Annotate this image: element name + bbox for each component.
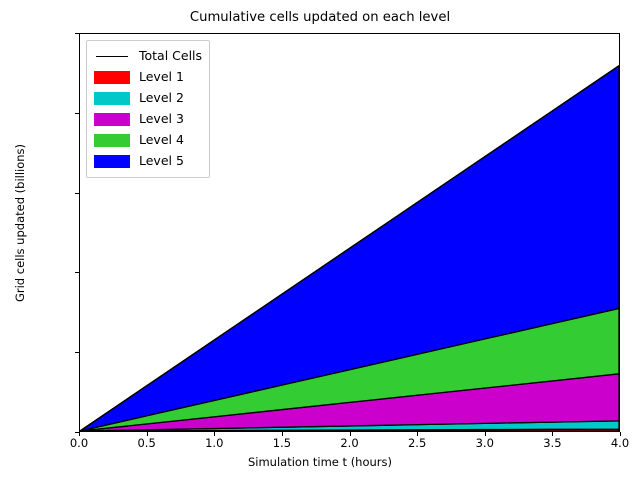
y-tick-mark [75,33,79,34]
y-tick-mark [75,113,79,114]
legend-swatch-icon [94,71,130,84]
x-tick-label: 0.0 [49,436,109,450]
legend-item-level-1[interactable]: Level 1 [94,67,202,88]
legend-line-stroke [96,56,128,58]
x-tick-label: 3.0 [455,436,515,450]
y-tick-mark [75,352,79,353]
legend-item-label: Level 1 [139,71,184,84]
legend-item-label: Level 3 [139,113,184,126]
legend-item-label: Level 5 [139,155,184,168]
legend-swatch-icon [94,113,130,126]
x-axis-label: Simulation time t (hours) [0,455,640,469]
legend-item-label: Level 2 [139,92,184,105]
legend-item-label: Level 4 [139,134,184,147]
x-tick-label: 0.5 [117,436,177,450]
legend-swatch-icon [94,155,130,168]
legend-item-total-cells[interactable]: Total Cells [94,46,202,67]
legend-item-level-3[interactable]: Level 3 [94,109,202,130]
figure-canvas: Cumulative cells updated on each level 0… [0,0,640,480]
x-tick-label: 4.0 [590,436,640,450]
x-tick-label: 3.5 [522,436,582,450]
y-axis-label: Grid cells updated (billions) [13,23,27,423]
legend-item-level-2[interactable]: Level 2 [94,88,202,109]
x-tick-label: 1.5 [252,436,312,450]
chart-title: Cumulative cells updated on each level [0,10,640,25]
legend-item-level-5[interactable]: Level 5 [94,151,202,172]
legend-item-level-4[interactable]: Level 4 [94,130,202,151]
y-tick-mark [75,193,79,194]
y-tick-mark [75,272,79,273]
x-tick-label: 2.5 [387,436,447,450]
legend-swatch-icon [94,134,130,147]
legend-swatch-icon [94,92,130,105]
legend-line-icon [94,50,130,63]
x-tick-label: 1.0 [184,436,244,450]
chart-legend: Total CellsLevel 1Level 2Level 3Level 4L… [86,40,210,178]
x-tick-label: 2.0 [320,436,380,450]
legend-item-label: Total Cells [139,50,202,63]
